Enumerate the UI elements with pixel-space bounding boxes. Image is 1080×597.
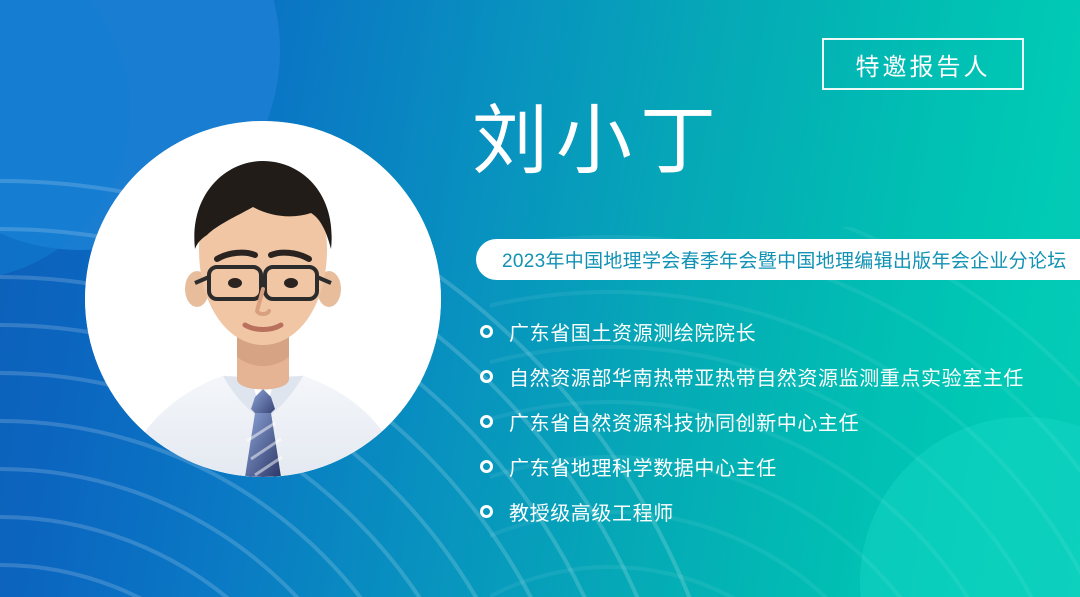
badge-label: 特邀报告人 — [856, 47, 991, 82]
credential-text: 广东省自然资源科技协同创新中心主任 — [509, 407, 859, 436]
list-item: 广东省自然资源科技协同创新中心主任 — [480, 399, 1070, 444]
list-item: 教授级高级工程师 — [480, 489, 1070, 534]
bullet-ring-icon — [480, 325, 493, 338]
bullet-ring-icon — [480, 415, 493, 428]
list-item: 广东省地理科学数据中心主任 — [480, 444, 1070, 489]
bullet-ring-icon — [480, 370, 493, 383]
portrait-illustration — [85, 121, 441, 477]
speaker-poster: 特邀报告人 刘小丁 2023年中国地理学会春季年会暨中国地理编辑出版年会企业分论… — [0, 0, 1080, 597]
event-title-text: 2023年中国地理学会春季年会暨中国地理编辑出版年会企业分论坛 — [502, 246, 1067, 273]
event-title-banner: 2023年中国地理学会春季年会暨中国地理编辑出版年会企业分论坛 — [476, 239, 1080, 280]
credential-text: 广东省国土资源测绘院院长 — [509, 317, 756, 346]
avatar — [85, 121, 441, 477]
credential-list: 广东省国土资源测绘院院长 自然资源部华南热带亚热带自然资源监测重点实验室主任 广… — [480, 309, 1070, 534]
credential-text: 自然资源部华南热带亚热带自然资源监测重点实验室主任 — [509, 362, 1024, 391]
list-item: 自然资源部华南热带亚热带自然资源监测重点实验室主任 — [480, 354, 1070, 399]
bullet-ring-icon — [480, 505, 493, 518]
credential-text: 教授级高级工程师 — [509, 497, 674, 526]
list-item: 广东省国土资源测绘院院长 — [480, 309, 1070, 354]
status-badge: 特邀报告人 — [822, 38, 1024, 90]
speaker-name: 刘小丁 — [472, 99, 724, 184]
credential-text: 广东省地理科学数据中心主任 — [509, 452, 777, 481]
page-title: 刘小丁 — [472, 104, 724, 180]
bullet-ring-icon — [480, 460, 493, 473]
